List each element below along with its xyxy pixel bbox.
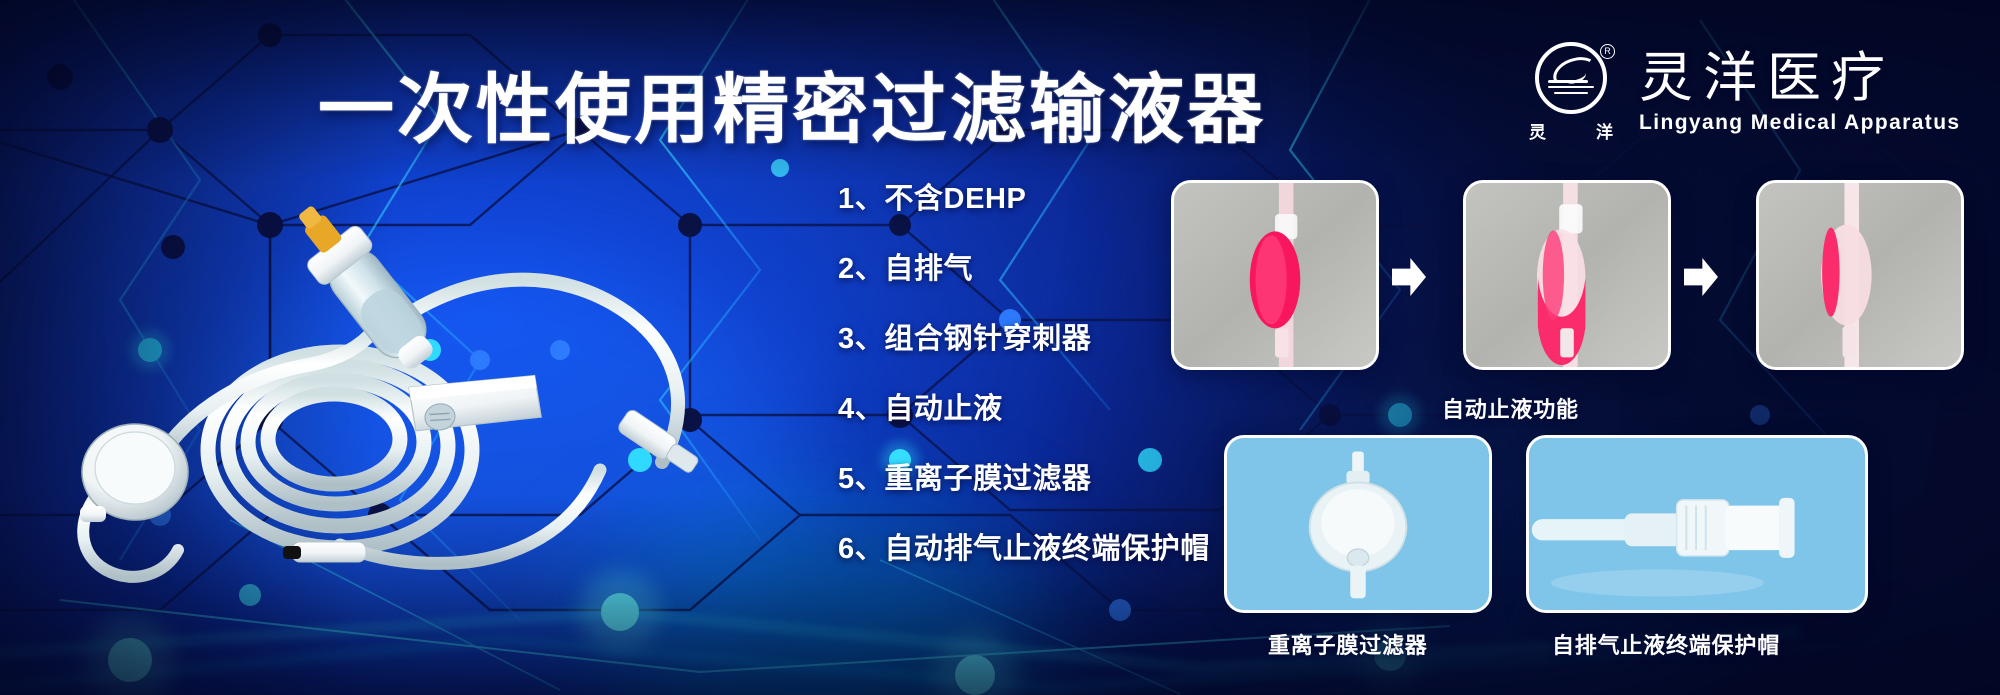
feature-item-1: 1、不含DEHP	[838, 175, 1210, 217]
logo-mark: R 灵 洋	[1525, 42, 1617, 143]
caption-auto-stop: 自动止液功能	[1442, 392, 1579, 424]
brand-name-cn: 灵洋医疗	[1639, 50, 1961, 107]
brand-name-en: Lingyang Medical Apparatus	[1639, 111, 1961, 135]
feature-list: 1、不含DEHP 2、自排气 3、组合钢针穿刺器 4、自动止液 5、重离子膜过滤…	[838, 175, 1210, 567]
product-banner: 一次性使用精密过滤输液器 R 灵 洋 灵洋医疗 Lingyang Medical…	[0, 0, 2000, 695]
photo-panel-terminal-cap	[1526, 435, 1868, 613]
feature-item-3: 3、组合钢针穿刺器	[838, 315, 1210, 357]
photo-panel-ion-filter	[1224, 435, 1492, 613]
photo-panel-autostop-2	[1463, 180, 1671, 370]
feature-item-2: 2、自排气	[838, 245, 1210, 287]
logo-char-right: 洋	[1596, 118, 1613, 143]
seal-emblem-icon	[1535, 42, 1607, 114]
injection-port-part	[283, 542, 366, 562]
feature-item-5: 5、重离子膜过滤器	[838, 455, 1210, 497]
photo-panel-autostop-1	[1171, 180, 1379, 370]
feature-item-6: 6、自动排气止液终端保护帽	[838, 525, 1210, 567]
logo-mark-subtext: 灵 洋	[1525, 118, 1617, 143]
registered-trademark-icon: R	[1600, 44, 1615, 59]
wave-icon	[1548, 80, 1594, 97]
caption-terminal-cap: 自排气止液终端保护帽	[1552, 628, 1780, 660]
product-hero-image	[40, 150, 720, 570]
feature-item-4: 4、自动止液	[838, 385, 1210, 427]
page-title: 一次性使用精密过滤输液器	[318, 48, 1266, 158]
photo-panel-autostop-3	[1756, 180, 1964, 370]
ion-filter-part	[80, 424, 188, 522]
logo-wordmark: 灵洋医疗 Lingyang Medical Apparatus	[1639, 50, 1961, 134]
brand-logo: R 灵 洋 灵洋医疗 Lingyang Medical Apparatus	[1525, 42, 1961, 143]
logo-char-left: 灵	[1529, 118, 1546, 143]
caption-ion-filter: 重离子膜过滤器	[1268, 628, 1428, 660]
